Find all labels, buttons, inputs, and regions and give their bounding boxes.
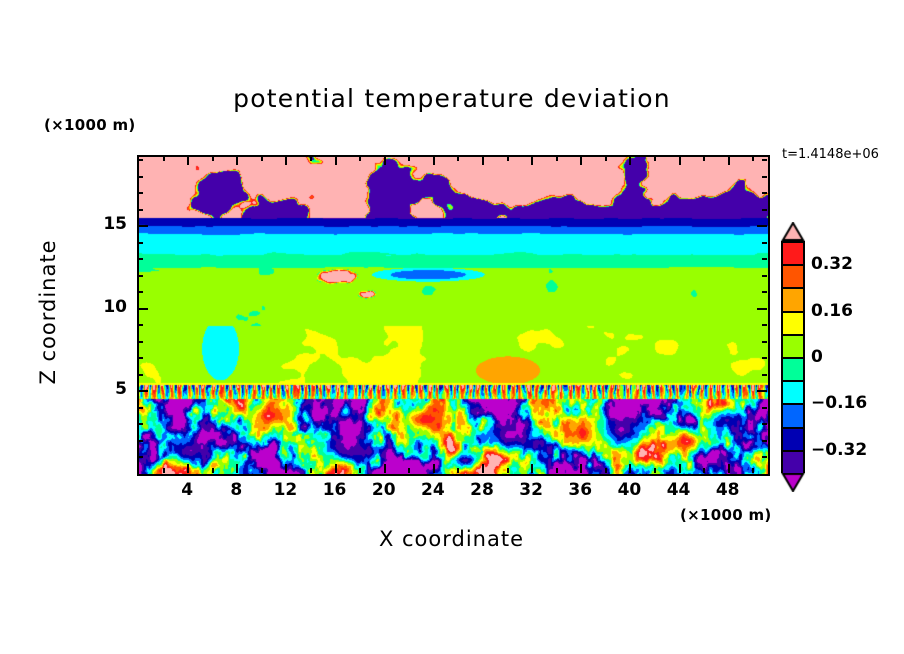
x-axis-tick (433, 156, 435, 165)
y-axis-tick (762, 159, 767, 161)
y-axis-tick (762, 374, 767, 376)
x-axis-tick (285, 156, 287, 165)
y-axis-tick (762, 341, 767, 343)
x-axis-tick-label: 48 (698, 480, 758, 500)
x-axis-tick (654, 468, 656, 473)
x-axis-unit-label: (×1000 m) (680, 506, 772, 524)
y-axis-tick-label: 5 (65, 379, 127, 399)
colorbar-band (783, 429, 803, 452)
x-axis-tick (310, 156, 312, 161)
temperature-deviation-field (139, 157, 768, 474)
x-axis-tick (654, 156, 656, 161)
x-axis-tick (507, 468, 509, 473)
colorbar-tick-label: 0 (811, 347, 823, 367)
y-axis-tick-label: 10 (65, 297, 127, 317)
x-axis-tick (187, 464, 189, 473)
y-axis-tick (762, 176, 767, 178)
colorbar-band (783, 382, 803, 405)
x-axis-tick (556, 468, 558, 473)
y-axis-tick (138, 308, 148, 310)
y-axis-tick (138, 258, 143, 260)
y-axis-tick (138, 341, 143, 343)
colorbar-band (783, 336, 803, 359)
x-axis-tick (531, 156, 533, 165)
x-axis-tick (629, 464, 631, 473)
x-axis-tick (359, 156, 361, 161)
colorbar-band (783, 266, 803, 289)
y-axis-tick (762, 456, 767, 458)
x-axis-tick (335, 156, 337, 165)
figure-root: potential temperature deviation (×1000 m… (0, 0, 904, 654)
x-axis-tick (236, 156, 238, 165)
y-axis-tick (138, 225, 148, 227)
x-axis-tick (679, 464, 681, 473)
x-axis-tick (187, 156, 189, 165)
x-axis-tick (261, 156, 263, 161)
x-axis-tick (507, 156, 509, 161)
y-axis-tick-label: 15 (65, 214, 127, 234)
y-axis-tick (762, 192, 767, 194)
y-axis-tick (138, 374, 143, 376)
x-axis-tick (384, 464, 386, 473)
y-axis-tick (138, 390, 148, 392)
time-annotation: t=1.4148e+06 (782, 147, 879, 162)
x-axis-tick (261, 468, 263, 473)
y-axis-tick (757, 308, 767, 310)
contour-plot-area (137, 155, 770, 476)
x-axis-tick (457, 468, 459, 473)
x-axis-tick (335, 464, 337, 473)
x-axis-tick (310, 468, 312, 473)
colorbar-arrow-top (781, 222, 805, 241)
colorbar-band (783, 359, 803, 382)
x-axis-tick (163, 156, 165, 161)
y-axis-tick (138, 275, 143, 277)
colorbar-band (783, 243, 803, 266)
x-axis-tick (728, 464, 730, 473)
y-axis-tick (762, 291, 767, 293)
colorbar: 0.320.160−0.16−0.32 (781, 224, 805, 490)
y-axis-tick (138, 176, 143, 178)
colorbar-band (783, 289, 803, 312)
x-axis-tick (580, 464, 582, 473)
x-axis-tick (408, 468, 410, 473)
y-axis-tick (757, 390, 767, 392)
x-axis-tick (752, 468, 754, 473)
y-axis-tick (138, 407, 143, 409)
x-axis-tick (752, 156, 754, 161)
y-axis-tick (762, 440, 767, 442)
y-axis-title: Z coordinate (36, 202, 60, 422)
x-axis-tick (408, 156, 410, 161)
colorbar-band (783, 313, 803, 336)
y-axis-tick (138, 242, 143, 244)
x-axis-tick (531, 464, 533, 473)
y-axis-tick (762, 242, 767, 244)
colorbar-band (783, 405, 803, 428)
y-axis-tick (138, 357, 143, 359)
x-axis-tick (605, 468, 607, 473)
x-axis-tick (728, 156, 730, 165)
colorbar-bands (781, 241, 805, 473)
y-axis-tick (138, 456, 143, 458)
colorbar-arrow-down-shape (781, 473, 805, 492)
x-axis-tick (605, 156, 607, 161)
x-axis-tick (703, 156, 705, 161)
colorbar-tick-label: 0.16 (811, 301, 853, 321)
colorbar-arrow-bottom (781, 473, 805, 492)
x-axis-tick (212, 468, 214, 473)
y-axis-tick (762, 423, 767, 425)
colorbar-tick-label: −0.32 (811, 440, 867, 460)
y-axis-tick (762, 407, 767, 409)
colorbar-tick-label: 0.32 (811, 254, 853, 274)
y-axis-tick (762, 324, 767, 326)
y-axis-tick (757, 225, 767, 227)
colorbar-tick-label: −0.16 (811, 393, 867, 413)
x-axis-tick (629, 156, 631, 165)
y-axis-tick (138, 423, 143, 425)
y-axis-tick (762, 209, 767, 211)
y-axis-tick (762, 258, 767, 260)
x-axis-tick (580, 156, 582, 165)
y-axis-tick (138, 291, 143, 293)
y-axis-tick (762, 275, 767, 277)
y-axis-tick (138, 192, 143, 194)
y-axis-tick (762, 357, 767, 359)
x-axis-tick (163, 468, 165, 473)
colorbar-band (783, 452, 803, 475)
x-axis-tick (482, 464, 484, 473)
x-axis-tick (285, 464, 287, 473)
page-title: potential temperature deviation (0, 84, 904, 113)
x-axis-tick (236, 464, 238, 473)
x-axis-tick (359, 468, 361, 473)
y-axis-tick (138, 209, 143, 211)
y-axis-tick (138, 440, 143, 442)
x-axis-tick (433, 464, 435, 473)
x-axis-tick (679, 156, 681, 165)
x-axis-tick (482, 156, 484, 165)
x-axis-tick (457, 156, 459, 161)
y-axis-tick (138, 159, 143, 161)
x-axis-tick (703, 468, 705, 473)
y-axis-tick (138, 324, 143, 326)
x-axis-tick (384, 156, 386, 165)
x-axis-tick (556, 156, 558, 161)
x-axis-title: X coordinate (137, 527, 766, 551)
colorbar-arrow-up-shape (781, 222, 805, 241)
x-axis-tick (212, 156, 214, 161)
z-axis-unit-label: (×1000 m) (44, 116, 136, 134)
